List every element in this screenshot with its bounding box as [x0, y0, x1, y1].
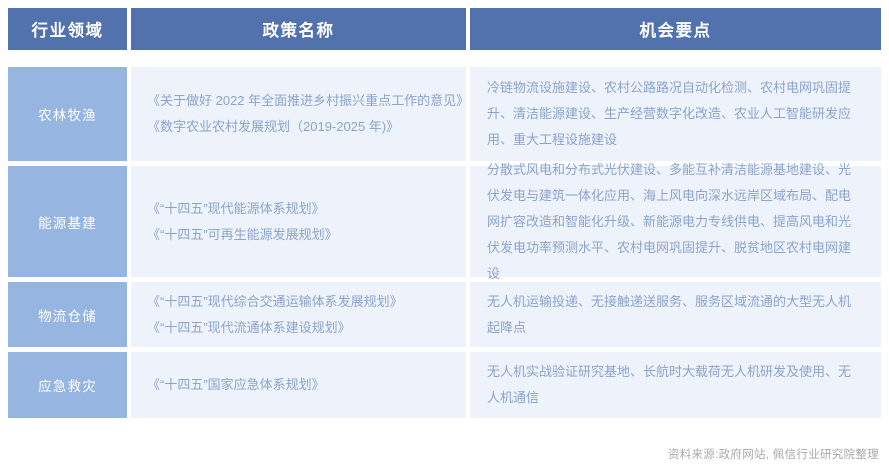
industry-label: 能源基建 [38, 212, 97, 232]
cell-policy: 《关于做好 2022 年全面推进乡村振兴重点工作的意见》 《数字农业农村发展规划… [131, 67, 466, 161]
table-header-row: 行业领域 政策名称 机会要点 [8, 8, 881, 50]
cell-policy: 《“十四五”国家应急体系规划》 [131, 352, 466, 418]
policy-name: 《“十四五”国家应急体系规划》 [147, 372, 454, 398]
points-text: 分散式风电和分布式光伏建设、多能互补清洁能源基地建设、光伏发电与建筑一体化应用、… [487, 157, 863, 287]
policy-opportunity-table-page: 行业领域 政策名称 机会要点 农林牧渔 《关于做好 2022 年全面推进乡村振兴… [0, 0, 889, 469]
column-header-industry: 行业领域 [8, 8, 127, 50]
cell-industry: 能源基建 [8, 166, 127, 277]
table-row: 物流仓储 《“十四五”现代综合交通运输体系发展规划》 《“十四五”现代流通体系建… [8, 282, 881, 347]
cell-industry: 农林牧渔 [8, 67, 127, 161]
points-text: 冷链物流设施建设、农村公路路况自动化检测、农村电网巩固提升、清洁能源建设、生产经… [487, 75, 863, 153]
policy-name: 《“十四五”现代能源体系规划》 [147, 196, 454, 222]
column-header-policy: 政策名称 [131, 8, 466, 50]
source-note: 资料来源:政府网站, 佩信行业研究院整理 [668, 446, 879, 462]
policy-name: 《“十四五”现代综合交通运输体系发展规划》 [147, 289, 454, 315]
cell-points: 无人机运输投递、无接触递送服务、服务区域流通的大型无人机起降点 [470, 282, 881, 347]
cell-industry: 物流仓储 [8, 282, 127, 347]
policy-name: 《“十四五”现代流通体系建设规划》 [147, 315, 454, 341]
column-header-industry-label: 行业领域 [32, 17, 104, 41]
industry-label: 应急救灾 [38, 375, 97, 395]
cell-policy: 《“十四五”现代能源体系规划》 《“十四五”可再生能源发展规划》 [131, 166, 466, 277]
policy-name: 《关于做好 2022 年全面推进乡村振兴重点工作的意见》 [147, 88, 454, 114]
cell-points: 分散式风电和分布式光伏建设、多能互补清洁能源基地建设、光伏发电与建筑一体化应用、… [470, 166, 881, 277]
cell-points: 冷链物流设施建设、农村公路路况自动化检测、农村电网巩固提升、清洁能源建设、生产经… [470, 67, 881, 161]
column-header-points-label: 机会要点 [640, 17, 712, 41]
policy-name: 《“十四五”可再生能源发展规划》 [147, 222, 454, 248]
industry-label: 农林牧渔 [38, 104, 97, 124]
table-row: 农林牧渔 《关于做好 2022 年全面推进乡村振兴重点工作的意见》 《数字农业农… [8, 67, 881, 161]
column-header-policy-label: 政策名称 [263, 17, 335, 41]
table-row: 能源基建 《“十四五”现代能源体系规划》 《“十四五”可再生能源发展规划》 分散… [8, 166, 881, 277]
points-text: 无人机实战验证研究基地、长航时大载荷无人机研发及使用、无人机通信 [487, 359, 863, 411]
policy-name: 《数字农业农村发展规划（2019-2025 年)》 [147, 114, 454, 140]
cell-points: 无人机实战验证研究基地、长航时大载荷无人机研发及使用、无人机通信 [470, 352, 881, 418]
industry-label: 物流仓储 [38, 305, 97, 325]
table-row: 应急救灾 《“十四五”国家应急体系规划》 无人机实战验证研究基地、长航时大载荷无… [8, 352, 881, 418]
cell-industry: 应急救灾 [8, 352, 127, 418]
cell-policy: 《“十四五”现代综合交通运输体系发展规划》 《“十四五”现代流通体系建设规划》 [131, 282, 466, 347]
column-header-points: 机会要点 [470, 8, 881, 50]
table-body: 农林牧渔 《关于做好 2022 年全面推进乡村振兴重点工作的意见》 《数字农业农… [8, 67, 881, 423]
points-text: 无人机运输投递、无接触递送服务、服务区域流通的大型无人机起降点 [487, 289, 863, 341]
